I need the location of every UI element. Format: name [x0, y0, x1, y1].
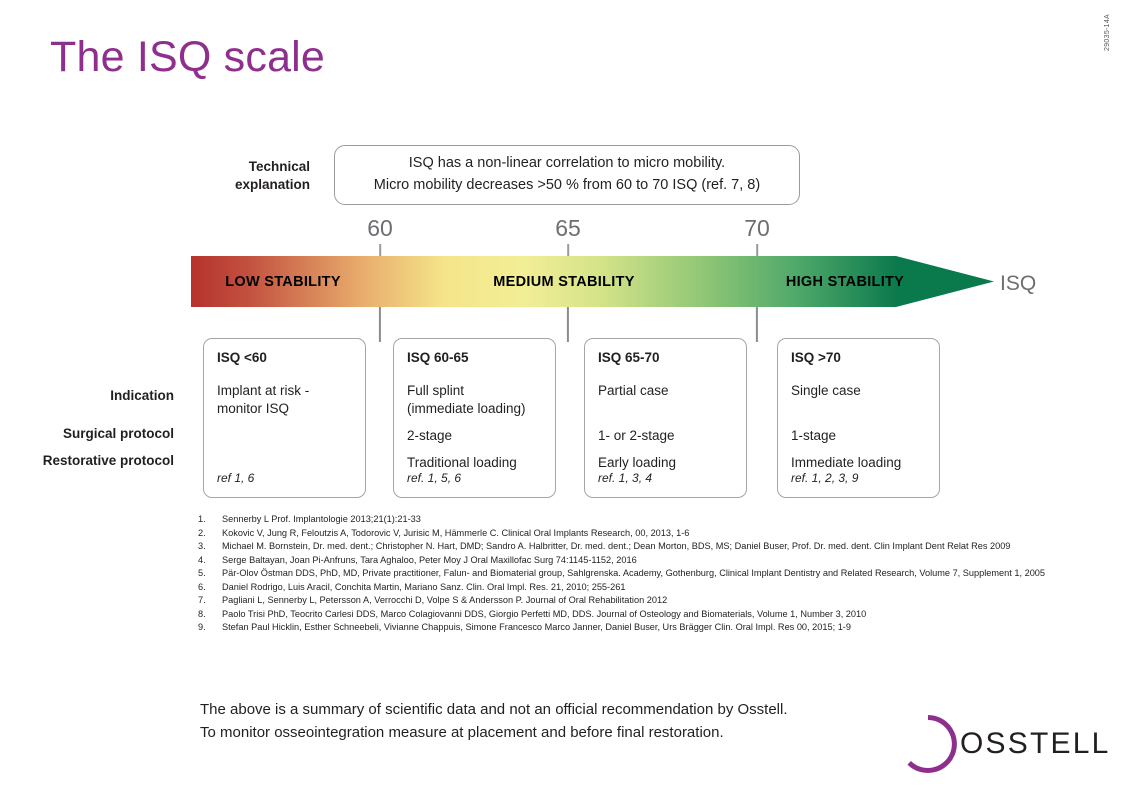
card-restorative-protocol: Traditional loading [407, 454, 547, 472]
document-code: 29035-14A [1104, 14, 1111, 51]
row-label-indication: Indication [110, 388, 174, 403]
card-indication: Single case [791, 382, 931, 400]
reference-text: Pagliani L, Sennerby L, Petersson A, Ver… [222, 594, 1103, 608]
card-reference: ref. 1, 3, 4 [598, 471, 652, 485]
osstell-logo: OSSTELL [898, 714, 1093, 776]
isq-range-card: ISQ 65-70 Partial case 1- or 2-stage Ear… [584, 338, 747, 498]
technical-explanation-line-1: ISQ has a non-linear correlation to micr… [409, 153, 725, 175]
technical-explanation-box: ISQ has a non-linear correlation to micr… [334, 145, 800, 205]
reference-number: 8. [198, 608, 222, 622]
scale-tick-mark-bottom [379, 307, 381, 342]
reference-item: 7.Pagliani L, Sennerby L, Petersson A, V… [198, 594, 1103, 608]
scale-tick-label: 60 [367, 217, 393, 240]
disclaimer: The above is a summary of scientific dat… [200, 699, 788, 745]
reference-item: 2.Kokovic V, Jung R, Feloutzis A, Todoro… [198, 527, 1103, 541]
technical-explanation-line-2: Micro mobility decreases >50 % from 60 t… [374, 175, 760, 197]
row-label-restorative-protocol: Restorative protocol [43, 453, 174, 468]
card-reference: ref. 1, 2, 3, 9 [791, 471, 858, 485]
reference-item: 6.Daniel Rodrigo, Luis Aracil, Conchita … [198, 581, 1103, 595]
isq-range-card: ISQ 60-65 Full splint(immediate loading)… [393, 338, 556, 498]
technical-explanation-label-line2: explanation [150, 176, 310, 194]
scale-tick-mark-bottom [567, 307, 569, 342]
scale-tick-mark-bottom [756, 307, 758, 342]
reference-text: Stefan Paul Hicklin, Esther Schneebeli, … [222, 621, 1103, 635]
reference-item: 5.Pär-Olov Östman DDS, PhD, MD, Private … [198, 567, 1103, 581]
card-title: ISQ 60-65 [407, 351, 542, 366]
page-title: The ISQ scale [50, 36, 325, 79]
isq-range-card: ISQ >70 Single case 1-stage Immediate lo… [777, 338, 940, 498]
scale-tick-label: 65 [555, 217, 581, 240]
technical-explanation-label: Technical explanation [150, 158, 310, 194]
reference-text: Daniel Rodrigo, Luis Aracil, Conchita Ma… [222, 581, 1103, 595]
osstell-wordmark: OSSTELL [960, 727, 1110, 761]
card-title: ISQ >70 [791, 351, 926, 366]
reference-number: 5. [198, 567, 222, 581]
reference-text: Serge Baltayan, Joan Pi-Anfruns, Tara Ag… [222, 554, 1103, 568]
reference-item: 9.Stefan Paul Hicklin, Esther Schneebeli… [198, 621, 1103, 635]
card-title: ISQ <60 [217, 351, 352, 366]
reference-item: 1.Sennerby L Prof. Implantologie 2013;21… [198, 513, 1103, 527]
disclaimer-line-2: To monitor osseointegration measure at p… [200, 722, 788, 745]
card-title: ISQ 65-70 [598, 351, 733, 366]
card-indication: Full splint(immediate loading) [407, 382, 547, 417]
isq-range-card: ISQ <60 Implant at risk -monitor ISQ ref… [203, 338, 366, 498]
reference-item: 3.Michael M. Bornstein, Dr. med. dent.; … [198, 540, 1103, 554]
reference-number: 6. [198, 581, 222, 595]
scale-tick-mark-top [567, 244, 569, 256]
stability-band-label: MEDIUM STABILITY [493, 274, 634, 290]
reference-number: 1. [198, 513, 222, 527]
reference-number: 3. [198, 540, 222, 554]
reference-text: Kokovic V, Jung R, Feloutzis A, Todorovi… [222, 527, 1103, 541]
card-surgical-protocol: 2-stage [407, 427, 547, 445]
row-label-surgical-protocol: Surgical protocol [63, 426, 174, 441]
card-restorative-protocol: Early loading [598, 454, 738, 472]
scale-tick-label: 70 [744, 217, 770, 240]
technical-explanation-label-line1: Technical [150, 158, 310, 176]
card-surgical-protocol: 1-stage [791, 427, 931, 445]
arrow-head [896, 256, 994, 307]
reference-text: Pär-Olov Östman DDS, PhD, MD, Private pr… [222, 567, 1103, 581]
reference-text: Sennerby L Prof. Implantologie 2013;21(1… [222, 513, 1103, 527]
reference-number: 4. [198, 554, 222, 568]
reference-number: 9. [198, 621, 222, 635]
osstell-ring-icon [898, 714, 958, 774]
card-reference: ref. 1, 5, 6 [407, 471, 461, 485]
reference-item: 4.Serge Baltayan, Joan Pi-Anfruns, Tara … [198, 554, 1103, 568]
reference-text: Paolo Trisi PhD, Teocrito Carlesi DDS, M… [222, 608, 1103, 622]
scale-tick-mark-top [379, 244, 381, 256]
reference-text: Michael M. Bornstein, Dr. med. dent.; Ch… [222, 540, 1103, 554]
card-restorative-protocol: Immediate loading [791, 454, 931, 472]
reference-item: 8.Paolo Trisi PhD, Teocrito Carlesi DDS,… [198, 608, 1103, 622]
reference-list: 1.Sennerby L Prof. Implantologie 2013;21… [198, 513, 1103, 635]
isq-axis-label: ISQ [1000, 272, 1036, 296]
card-indication: Partial case [598, 382, 738, 400]
stability-band-label: HIGH STABILITY [786, 274, 904, 290]
reference-number: 7. [198, 594, 222, 608]
card-surgical-protocol: 1- or 2-stage [598, 427, 738, 445]
disclaimer-line-1: The above is a summary of scientific dat… [200, 699, 788, 722]
scale-tick-mark-top [756, 244, 758, 256]
stability-band-label: LOW STABILITY [225, 274, 341, 290]
card-reference: ref 1, 6 [217, 471, 254, 485]
reference-number: 2. [198, 527, 222, 541]
card-indication: Implant at risk -monitor ISQ [217, 382, 357, 417]
